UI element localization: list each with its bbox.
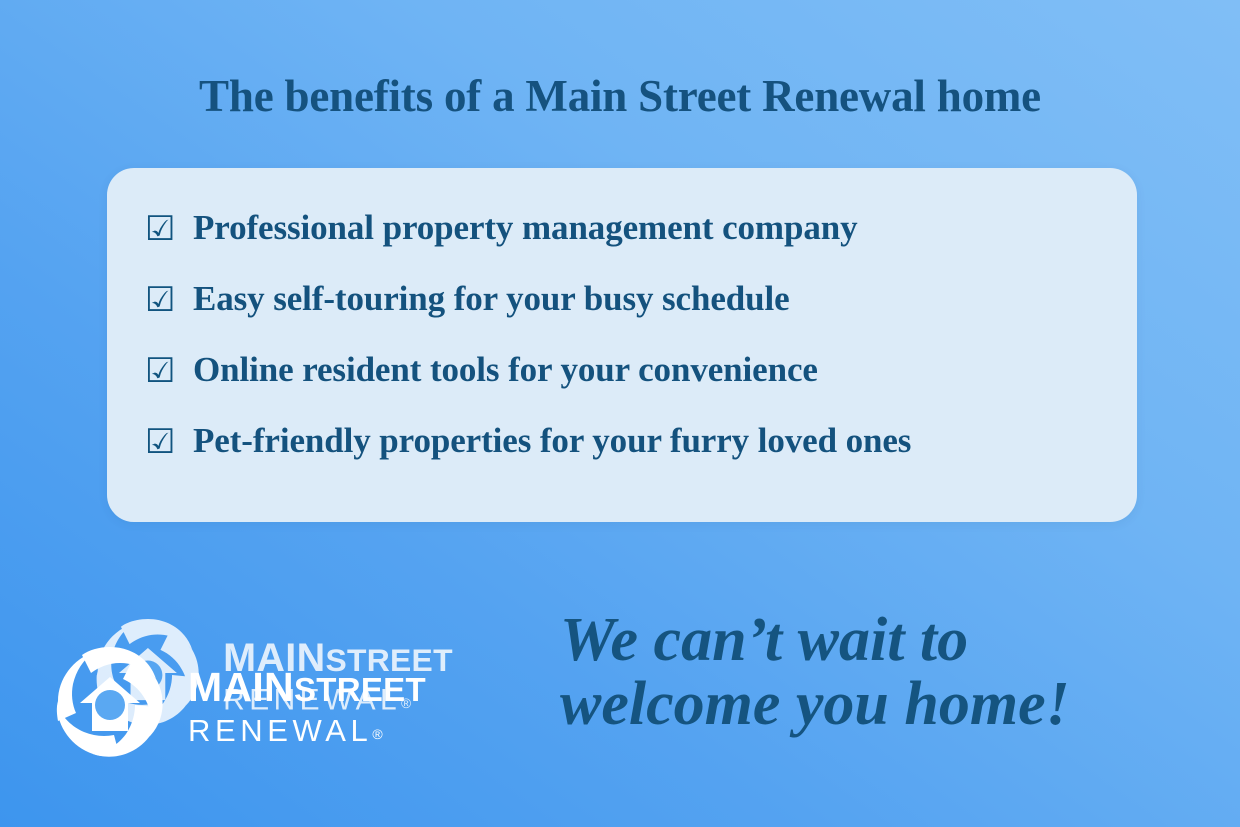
list-item: ☑ Professional property management compa…	[145, 210, 1117, 281]
registered-trademark-icon: ®	[372, 726, 382, 742]
list-item-label: Easy self-touring for your busy schedule	[193, 281, 790, 316]
benefits-card: ☑ Professional property management compa…	[107, 168, 1137, 522]
benefits-list: ☑ Professional property management compa…	[145, 210, 1117, 494]
brand-logo: MAINSTREET RENEWAL®	[44, 612, 514, 797]
brand-word-main: MAIN	[188, 664, 294, 710]
brand-word-secondary: STREET	[294, 671, 426, 708]
checkbox-checked-icon: ☑	[145, 425, 193, 459]
list-item: ☑ Online resident tools for your conveni…	[145, 352, 1117, 423]
brand-wordmark: MAINSTREET	[188, 667, 426, 707]
page-title: The benefits of a Main Street Renewal ho…	[0, 72, 1240, 122]
list-item-label: Pet-friendly properties for your furry l…	[193, 423, 911, 458]
brand-subtitle: RENEWAL®	[188, 715, 426, 746]
tagline: We can’t wait to welcome you home!	[560, 608, 1200, 737]
brand-logo-wordmark-group: MAINSTREET RENEWAL®	[188, 663, 426, 745]
brand-logo-primary-copy: MAINSTREET RENEWAL®	[44, 612, 514, 797]
promo-poster: The benefits of a Main Street Renewal ho…	[0, 0, 1240, 827]
list-item: ☑ Pet-friendly properties for your furry…	[145, 423, 1117, 494]
list-item-label: Online resident tools for your convenien…	[193, 352, 818, 387]
tagline-line-1: We can’t wait to	[560, 608, 1200, 672]
checkbox-checked-icon: ☑	[145, 212, 193, 246]
checkbox-checked-icon: ☑	[145, 354, 193, 388]
list-item-label: Professional property management company	[193, 210, 858, 245]
checkbox-checked-icon: ☑	[145, 283, 193, 317]
tagline-line-2: welcome you home!	[560, 672, 1200, 736]
mainstreet-renewal-swirl-icon	[44, 639, 176, 771]
list-item: ☑ Easy self-touring for your busy schedu…	[145, 281, 1117, 352]
